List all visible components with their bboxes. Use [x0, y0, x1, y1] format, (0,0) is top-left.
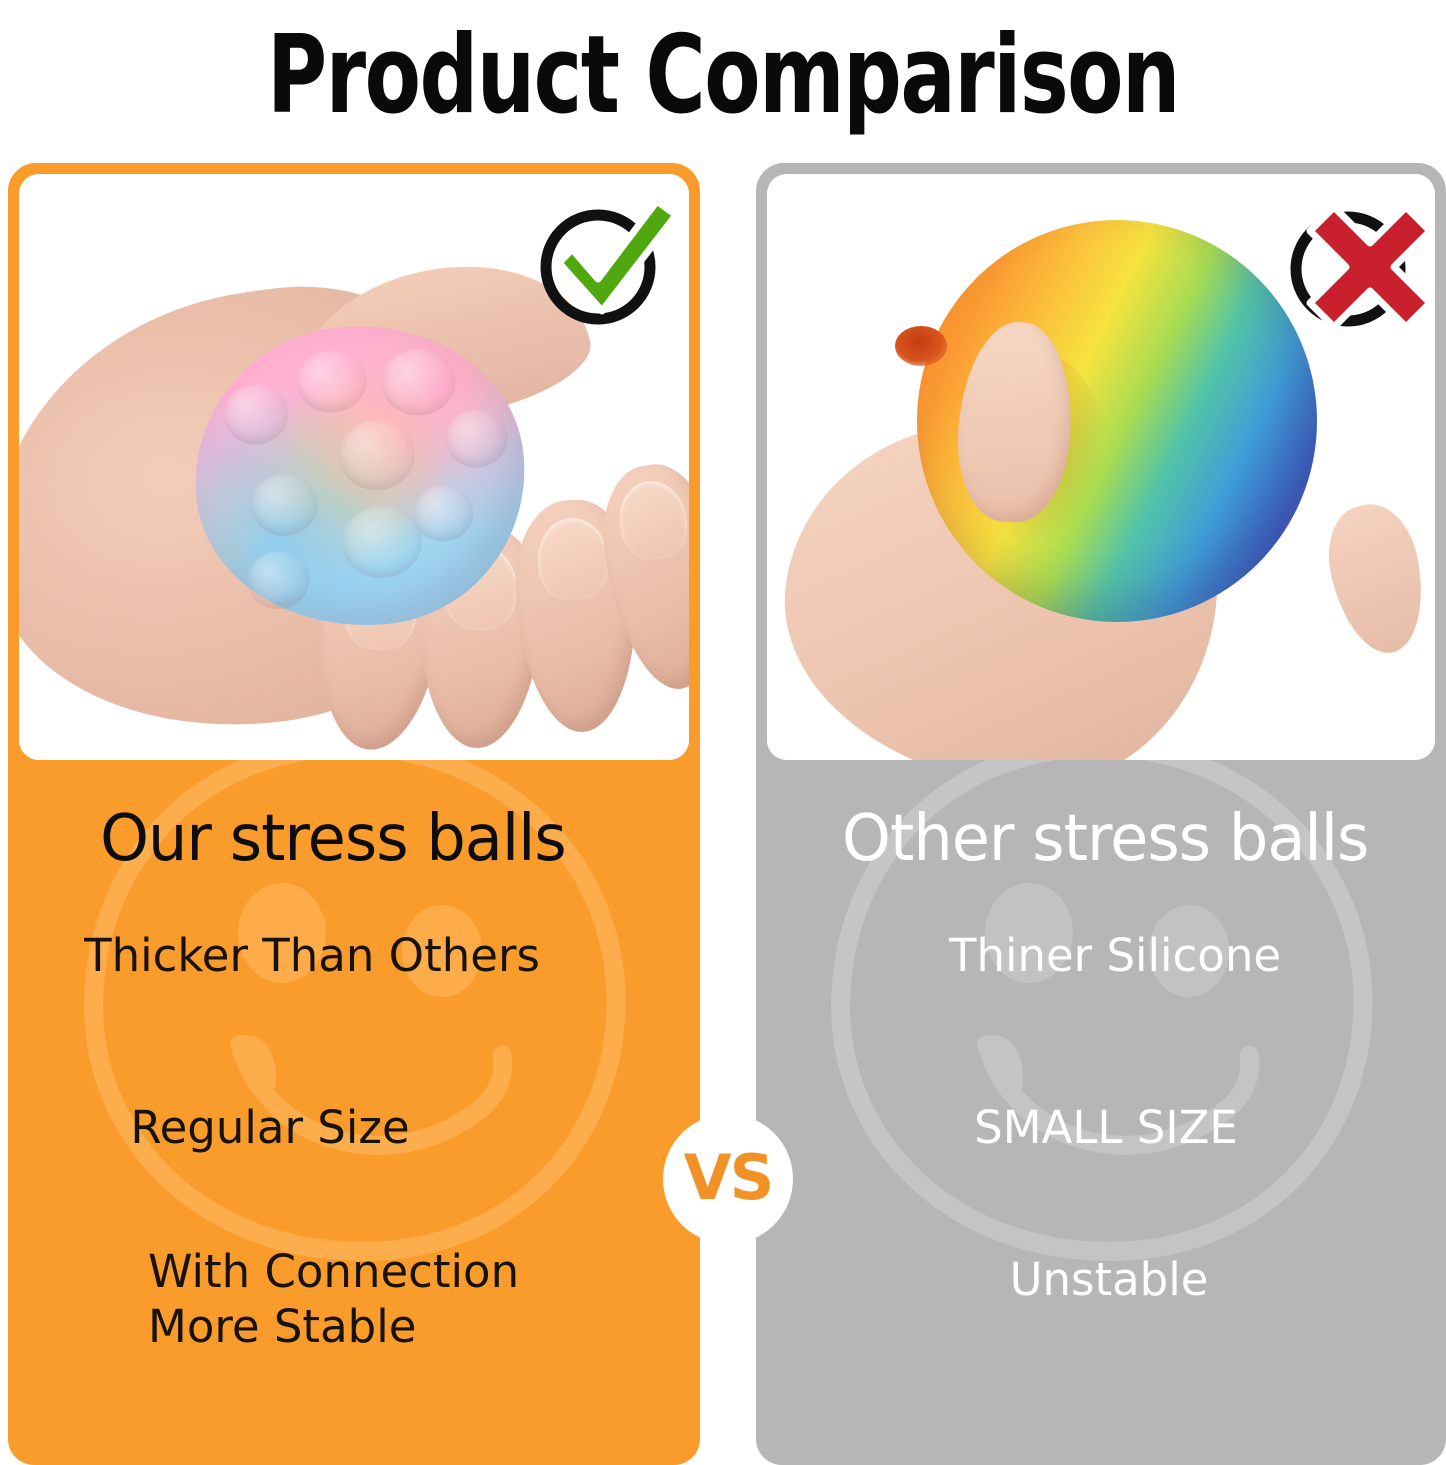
green-check-icon — [526, 187, 686, 337]
red-cross-icon — [1278, 187, 1438, 337]
comparison-container: Our stress balls Thicker Than Others Reg… — [0, 163, 1446, 1465]
other-product-feature-list: Thiner Silicone SMALL SIZE Unstable — [756, 923, 1446, 1425]
feature-item: SMALL SIZE — [756, 1101, 1446, 1156]
fingernail — [614, 476, 689, 563]
our-product-feature-list: Thicker Than Others Regular Size With Co… — [8, 923, 700, 1425]
our-product-panel: Our stress balls Thicker Than Others Reg… — [8, 163, 700, 1465]
feature-item: With Connection More Stable — [148, 1245, 519, 1355]
other-product-panel: Other stress balls Thiner Silicone SMALL… — [756, 163, 1446, 1465]
vs-label: VS — [684, 1141, 773, 1214]
vs-badge: VS — [663, 1114, 793, 1244]
fingernail — [536, 516, 610, 602]
ball-dimple — [895, 326, 947, 366]
feature-item: Thicker Than Others — [8, 929, 700, 984]
feature-item: Unstable — [756, 1253, 1446, 1308]
feature-item: Regular Size — [8, 1101, 700, 1156]
page-title: Product Comparison — [174, 0, 1273, 150]
other-product-heading: Other stress balls — [756, 783, 1425, 895]
feature-item: Thiner Silicone — [756, 929, 1446, 984]
hand-finger — [1318, 496, 1435, 661]
our-product-heading: Our stress balls — [8, 783, 679, 895]
